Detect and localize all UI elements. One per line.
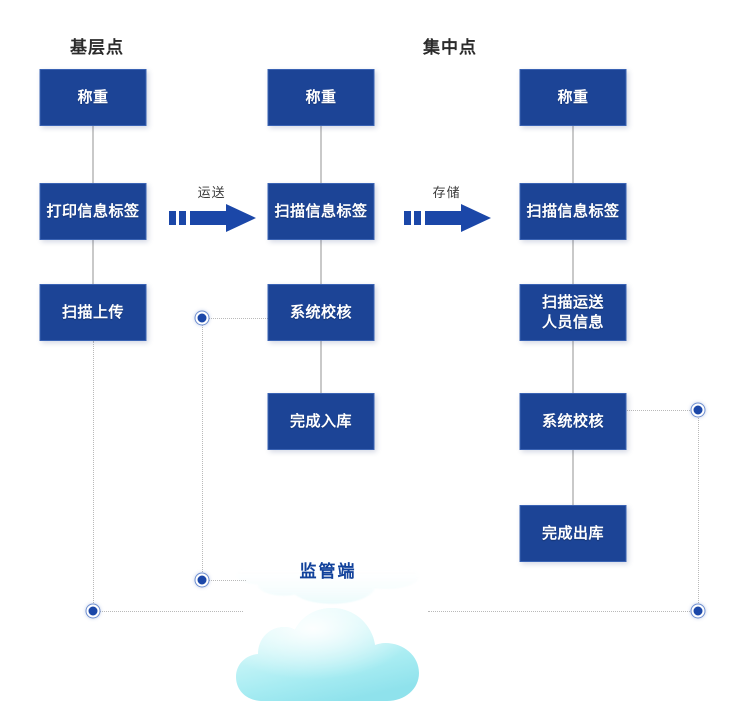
dot-marker (196, 312, 209, 325)
dot-marker (87, 605, 100, 618)
process-box-scan-label-out[interactable]: 扫描信息标签 (520, 183, 627, 240)
connector-vertical (320, 341, 322, 393)
arrow-right-icon (169, 202, 257, 232)
process-box-label: 完成入库 (290, 412, 352, 432)
column-header-grassroots: 基层点 (70, 33, 124, 58)
process-box-weighing-3[interactable]: 称重 (520, 69, 627, 126)
dotted-line-vertical (93, 341, 94, 611)
process-box-label: 扫描运送 人员信息 (542, 293, 604, 333)
transport-arrow-group: 运送 (169, 182, 257, 234)
dotted-line-vertical (698, 410, 699, 611)
process-box-label: 称重 (305, 88, 336, 108)
dotted-line-horizontal (202, 318, 268, 319)
process-box-label: 称重 (77, 88, 108, 108)
connector-vertical (572, 240, 574, 284)
connector-vertical (320, 240, 322, 284)
arrow-label-storage: 存储 (433, 182, 461, 201)
arrow-label-transport: 运送 (198, 182, 226, 201)
connector-vertical (572, 450, 574, 505)
cloud-label: 监管端 (300, 557, 357, 582)
process-box-system-check-out[interactable]: 系统校核 (520, 393, 627, 450)
arrow-right-icon (404, 202, 492, 232)
process-box-label: 系统校核 (290, 303, 352, 323)
process-box-outbound-complete[interactable]: 完成出库 (520, 505, 627, 562)
process-box-system-check-in[interactable]: 系统校核 (268, 284, 375, 341)
dot-marker (692, 404, 705, 417)
dotted-line-horizontal (428, 611, 698, 612)
process-box-print-label[interactable]: 打印信息标签 (40, 183, 147, 240)
process-box-weighing-2[interactable]: 称重 (268, 69, 375, 126)
flowchart-canvas: 基层点 集中点 称重 打印信息标签 扫描上传 称重 扫描信息标签 系统校核 (0, 0, 740, 662)
connector-vertical (320, 126, 322, 183)
cloud-icon (233, 605, 423, 705)
process-box-weighing-1[interactable]: 称重 (40, 69, 147, 126)
dotted-line-horizontal (627, 410, 698, 411)
process-box-label: 扫描信息标签 (274, 202, 367, 222)
connector-vertical (92, 240, 94, 284)
process-box-label: 完成出库 (542, 524, 604, 544)
storage-arrow-group: 存储 (404, 182, 492, 234)
process-box-scan-upload[interactable]: 扫描上传 (40, 284, 147, 341)
process-box-label: 扫描信息标签 (526, 202, 619, 222)
process-box-label: 扫描上传 (62, 303, 124, 323)
column-header-collection: 集中点 (423, 33, 477, 58)
cloud-supervision[interactable]: 监管端 (233, 505, 423, 655)
connector-vertical (572, 341, 574, 393)
dotted-line-vertical (202, 318, 203, 580)
process-box-label: 称重 (557, 88, 588, 108)
connector-vertical (92, 126, 94, 183)
dot-marker (196, 574, 209, 587)
connector-vertical (572, 126, 574, 183)
dot-marker (692, 605, 705, 618)
process-box-storage-complete[interactable]: 完成入库 (268, 393, 375, 450)
process-box-label: 打印信息标签 (46, 202, 139, 222)
process-box-label: 系统校核 (542, 412, 604, 432)
process-box-scan-transporter[interactable]: 扫描运送 人员信息 (520, 284, 627, 341)
dotted-line-horizontal (93, 611, 243, 612)
process-box-scan-label-in[interactable]: 扫描信息标签 (268, 183, 375, 240)
